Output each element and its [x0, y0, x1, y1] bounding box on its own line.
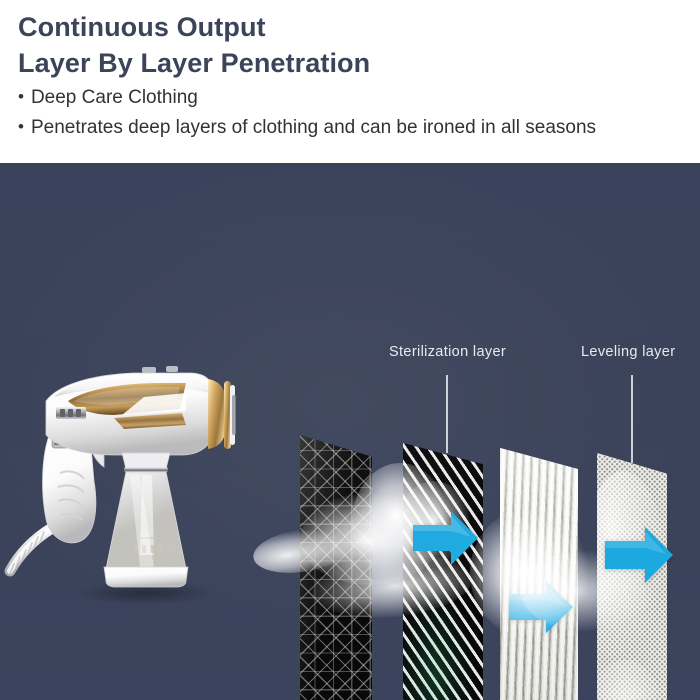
- flow-arrow-3: [605, 527, 673, 583]
- panel-green-tint: [403, 443, 483, 700]
- layer-panel-sterilization: [403, 443, 483, 700]
- flow-arrow-1: [413, 511, 478, 565]
- feature-bullet-2: • Penetrates deep layers of clothing and…: [18, 117, 686, 140]
- bullet-dot-icon: •: [18, 118, 24, 135]
- bullet-dot-icon: •: [18, 88, 24, 105]
- side-vents: [56, 407, 86, 419]
- feature-bullet-2-text: Penetrates deep layers of clothing and c…: [31, 117, 596, 140]
- panel-sheen: [500, 448, 578, 700]
- top-indicator-slots: [142, 366, 178, 373]
- feature-bullet-1: • Deep Care Clothing: [18, 87, 686, 110]
- leader-line-sterilization: [446, 375, 448, 453]
- garment-steamer-product: [0, 323, 284, 603]
- product-infographic: Continuous Output Layer By Layer Penetra…: [0, 0, 700, 700]
- steam-nozzle: [208, 379, 236, 449]
- feature-bullet-1-text: Deep Care Clothing: [31, 87, 198, 110]
- leader-line-leveling: [631, 375, 633, 463]
- flow-arrow-2: [509, 581, 573, 633]
- diagram-stage: Sterilization layer Leveling layer Clean…: [0, 163, 700, 700]
- layer-panel-moisturizing: [500, 448, 578, 700]
- header-panel: Continuous Output Layer By Layer Penetra…: [0, 0, 700, 163]
- page-title-line-2: Layer By Layer Penetration: [18, 46, 686, 81]
- layer-label-leveling: Leveling layer: [581, 344, 675, 360]
- tank-neck: [122, 453, 170, 469]
- power-cord: [10, 528, 52, 574]
- panel-sheen: [300, 435, 372, 700]
- layer-panel-cleaning: [300, 435, 372, 700]
- layer-label-sterilization: Sterilization layer: [389, 344, 506, 360]
- page-title-line-1: Continuous Output: [18, 10, 686, 45]
- tank-collar: [124, 467, 168, 472]
- tank-base: [104, 567, 188, 587]
